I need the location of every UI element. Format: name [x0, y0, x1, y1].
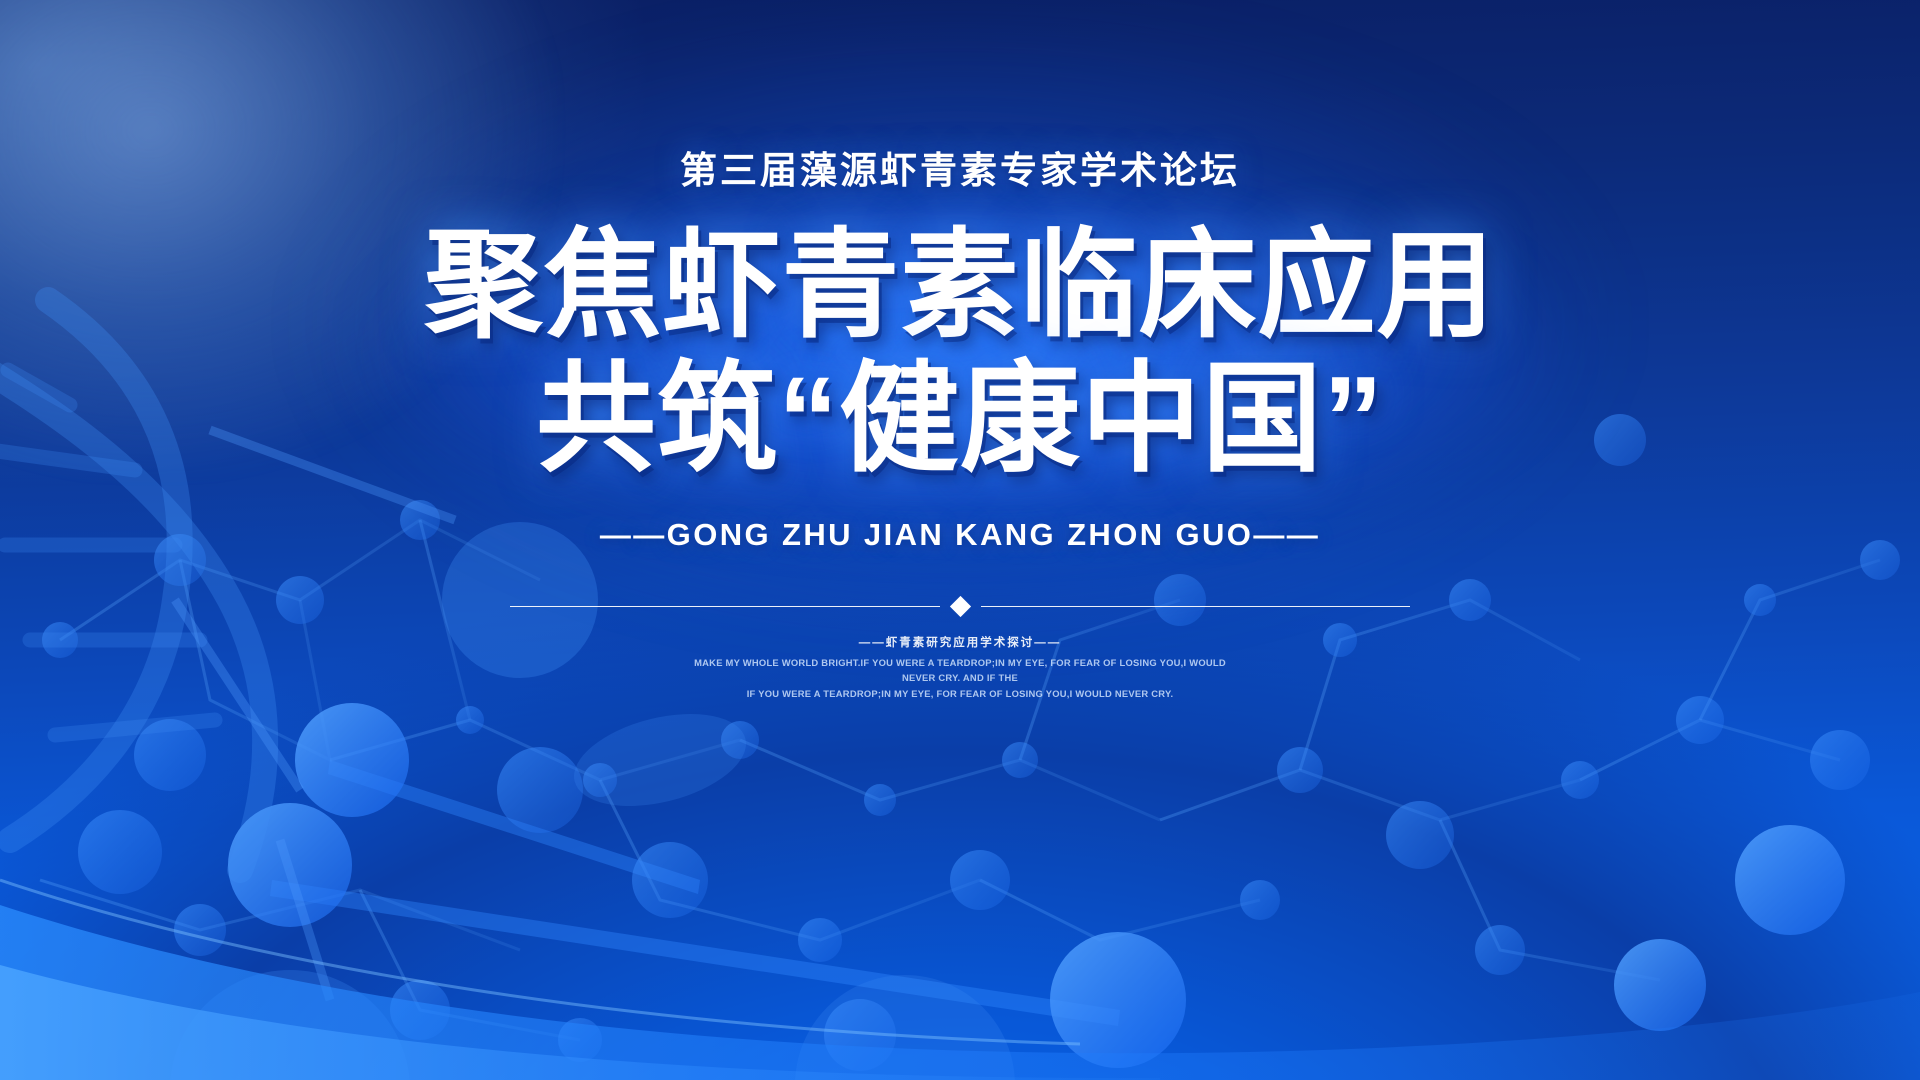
banner-title-line-2: 共筑“健康中国” [536, 352, 1384, 486]
banner-footnote: ——虾青素研究应用学术探讨—— MAKE MY WHOLE WORLD BRIG… [680, 634, 1240, 702]
banner-title-line-1: 聚焦虾青素临床应用 [424, 220, 1495, 352]
footnote-chinese: ——虾青素研究应用学术探讨—— [680, 634, 1240, 650]
footnote-english-line-1: MAKE MY WHOLE WORLD BRIGHT.IF YOU WERE A… [680, 655, 1240, 686]
footnote-english-line-2: IF YOU WERE A TEARDROP;IN MY EYE, FOR FE… [680, 686, 1240, 702]
divider-bar-right [981, 606, 1411, 607]
banner-title-block: 聚焦虾青素临床应用 共筑“健康中国” [424, 220, 1495, 487]
conference-banner: 第三届藻源虾青素专家学术论坛 聚焦虾青素临床应用 共筑“健康中国” ——GONG… [0, 0, 1920, 1080]
banner-divider [510, 599, 1410, 614]
banner-pinyin: ——GONG ZHU JIAN KANG ZHON GUO—— [600, 517, 1320, 553]
divider-bar-left [510, 606, 940, 607]
banner-eyebrow: 第三届藻源虾青素专家学术论坛 [680, 140, 1240, 194]
diamond-icon [949, 595, 970, 616]
banner-content: 第三届藻源虾青素专家学术论坛 聚焦虾青素临床应用 共筑“健康中国” ——GONG… [0, 0, 1920, 1080]
